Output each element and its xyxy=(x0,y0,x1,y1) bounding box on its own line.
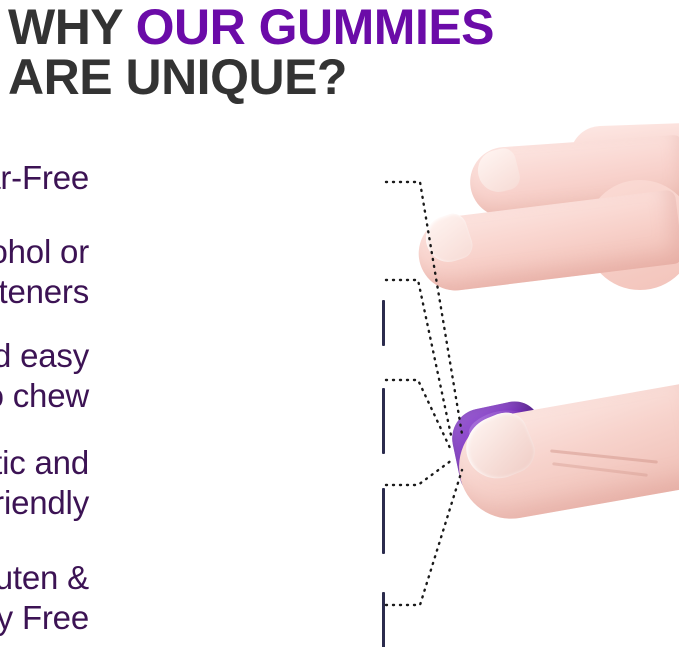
benefit-line: to chew xyxy=(0,376,89,416)
benefit-line: Cruelty Free xyxy=(0,598,89,638)
benefit-line: Diabetic and xyxy=(0,443,89,483)
headline-prefix: WHY xyxy=(8,0,136,55)
benefit-tick-4 xyxy=(382,592,385,647)
benefit-tick-1 xyxy=(382,300,385,346)
benefit-item-diabetic-paleo: Diabetic and Paleo friendly xyxy=(0,443,89,523)
benefit-line: Vegan, Gluten & xyxy=(0,558,89,598)
hand-with-gummy-photo xyxy=(400,120,679,647)
headline-line-2: ARE UNIQUE? xyxy=(8,52,668,102)
headline-accent: OUR GUMMIES xyxy=(136,0,494,55)
benefit-line: Paleo friendly xyxy=(0,483,89,523)
benefit-item-vegan-gluten-cruelty-free: Vegan, Gluten & Cruelty Free xyxy=(0,558,89,638)
infographic-page: WHY OUR GUMMIES ARE UNIQUE? Suga xyxy=(0,0,679,647)
benefit-item-tasty-easy-chew: Tasty and easy to chew xyxy=(0,336,89,416)
benefit-item-no-sugar-alcohol: No Sugar Alcohol or alcohol sweeteners xyxy=(0,232,89,312)
benefit-tick-3 xyxy=(382,488,385,554)
page-title: WHY OUR GUMMIES ARE UNIQUE? xyxy=(8,2,668,102)
benefit-line: No Sugar Alcohol or xyxy=(0,232,89,272)
benefit-line: alcohol sweeteners xyxy=(0,272,89,312)
benefit-item-sugar-free: Sugar-Free xyxy=(0,158,89,198)
benefit-line: Sugar-Free xyxy=(0,158,89,198)
headline-line-1: WHY OUR GUMMIES xyxy=(8,2,668,52)
benefit-line: Tasty and easy xyxy=(0,336,89,376)
benefit-tick-2 xyxy=(382,388,385,454)
